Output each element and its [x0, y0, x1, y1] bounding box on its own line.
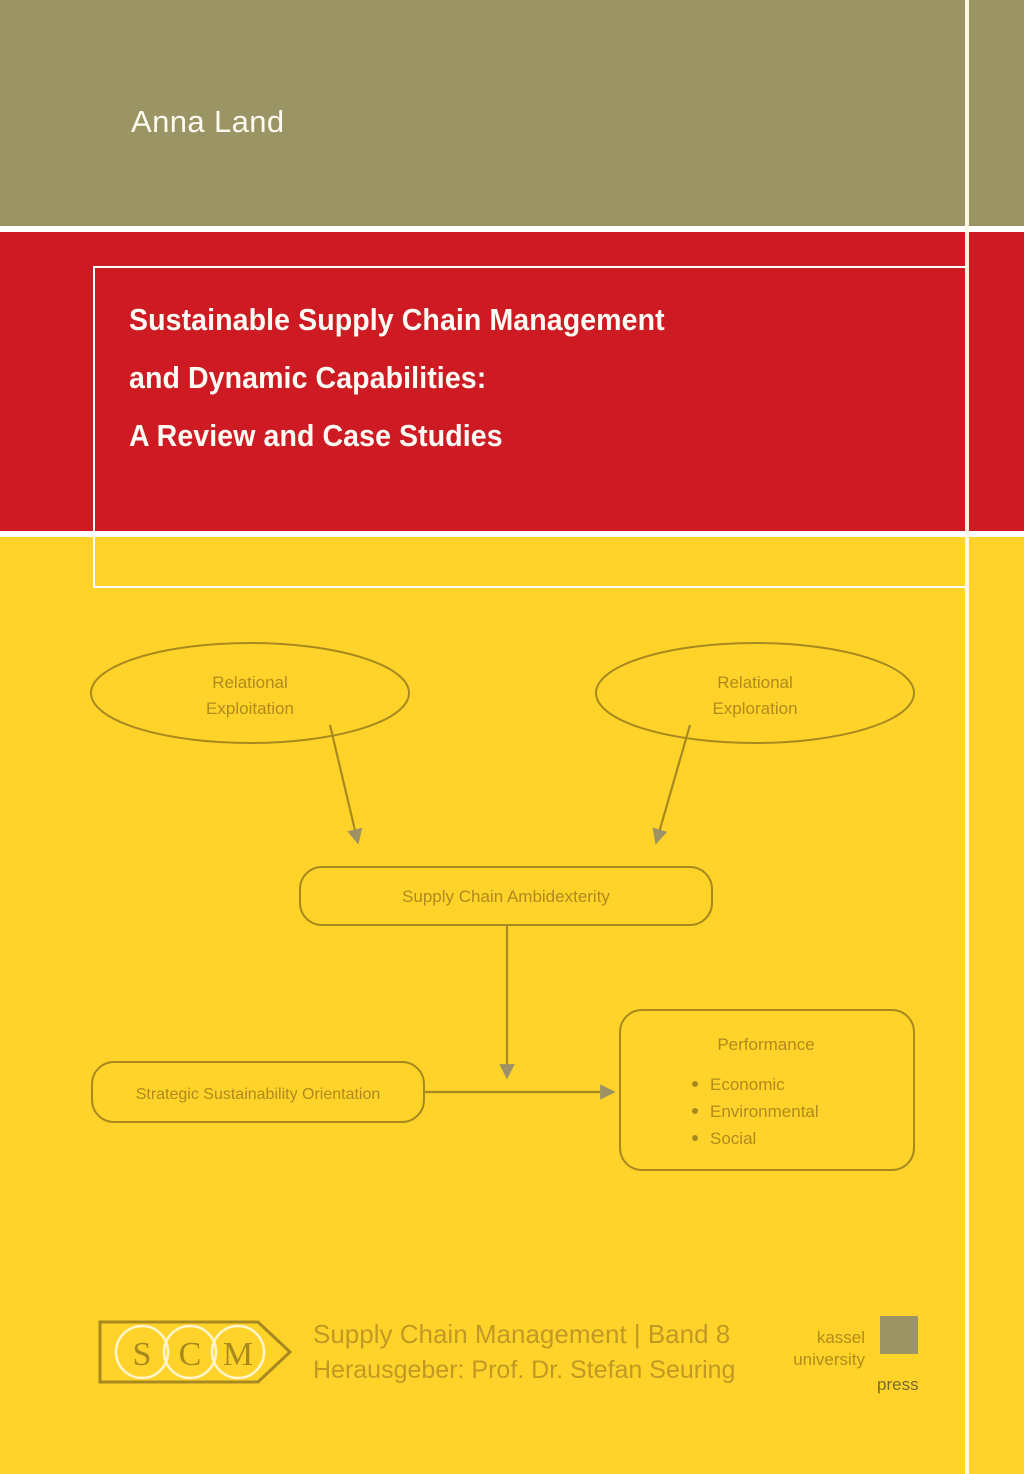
relational-exploration-line2: Exploration — [712, 699, 797, 718]
author-name: Anna Land — [131, 104, 285, 140]
node-relational-exploration: Relational Exploration — [596, 643, 914, 743]
book-cover: Anna Land Sustainable Supply Chain Manag… — [0, 0, 1024, 1474]
scm-logo-letter-s: S — [133, 1336, 152, 1373]
title-line-1: Sustainable Supply Chain Management — [129, 291, 828, 349]
node-strategic-sustainability-orientation: Strategic Sustainability Orientation — [92, 1062, 424, 1122]
series-info: Supply Chain Management | Band 8 Herausg… — [313, 1316, 735, 1388]
conceptual-model-diagram: Relational Exploitation Relational Explo… — [0, 600, 1024, 1220]
publisher-press: press — [877, 1375, 919, 1395]
publisher-logo: kassel university press — [762, 1296, 932, 1406]
title-line-2: and Dynamic Capabilities: — [129, 349, 828, 407]
publisher-square-icon — [880, 1316, 918, 1354]
edge-exploration-to-ambidexterity — [656, 725, 690, 843]
publisher-university: university — [793, 1350, 865, 1370]
title-line-3: A Review and Case Studies — [129, 407, 828, 465]
performance-bullet-1: Economic — [710, 1075, 785, 1094]
relational-exploitation-line1: Relational — [212, 673, 288, 692]
performance-bullet-3: Social — [710, 1129, 756, 1148]
scm-logo-letter-c: C — [179, 1336, 202, 1373]
publisher-kassel: kassel — [817, 1328, 865, 1348]
performance-bullet-2: Environmental — [710, 1102, 819, 1121]
relational-exploration-ellipse — [596, 643, 914, 743]
edge-exploitation-to-ambidexterity — [330, 725, 358, 843]
performance-title: Performance — [717, 1035, 814, 1054]
node-supply-chain-ambidexterity: Supply Chain Ambidexterity — [300, 867, 712, 925]
spine-rule — [965, 0, 969, 1474]
series-editor: Herausgeber: Prof. Dr. Stefan Seuring — [313, 1352, 735, 1388]
relational-exploration-line1: Relational — [717, 673, 793, 692]
bullet-point-icon — [692, 1108, 698, 1114]
node-relational-exploitation: Relational Exploitation — [91, 643, 409, 743]
scm-logo: S C M — [98, 1318, 294, 1386]
scm-logo-letter-m: M — [223, 1336, 253, 1373]
node-performance: Performance Economic Environmental Socia… — [620, 1010, 914, 1170]
strategic-sustainability-orientation-label: Strategic Sustainability Orientation — [136, 1086, 381, 1103]
series-title: Supply Chain Management | Band 8 — [313, 1316, 735, 1352]
supply-chain-ambidexterity-label: Supply Chain Ambidexterity — [402, 887, 610, 906]
relational-exploitation-line2: Exploitation — [206, 699, 294, 718]
bullet-point-icon — [692, 1135, 698, 1141]
bullet-point-icon — [692, 1081, 698, 1087]
book-title: Sustainable Supply Chain Management and … — [129, 291, 889, 465]
relational-exploitation-ellipse — [91, 643, 409, 743]
